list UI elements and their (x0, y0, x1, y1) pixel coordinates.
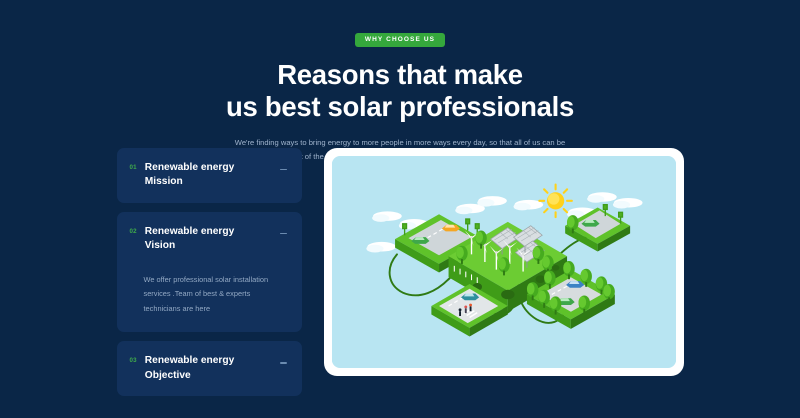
minus-icon[interactable] (279, 229, 288, 238)
illustration-card (324, 148, 684, 376)
port (535, 275, 545, 283)
minus-icon[interactable] (279, 165, 288, 174)
accordion-item-2[interactable]: 02 Renewable energy Vision We offer prof… (117, 212, 302, 332)
page-root: WHY CHOOSE US Reasons that make us best … (0, 0, 800, 418)
isometric-renewable-energy-city-illustration (332, 156, 676, 368)
accordion-body-2: We offer professional solar installation… (130, 273, 288, 316)
accordion-title-3-line-1: Renewable energy (145, 355, 234, 366)
accordion-title-1-line-1: Renewable energy (145, 162, 234, 173)
accordion-number-1: 01 (130, 161, 137, 171)
accordion-number-3: 03 (130, 354, 137, 364)
main-content: 01 Renewable energy Mission 02 Renewable… (0, 148, 800, 388)
minus-icon[interactable] (279, 358, 288, 367)
illustration-canvas (332, 156, 676, 368)
accordion-title-1-line-2: Mission (145, 176, 183, 187)
accordion-header-2[interactable]: 02 Renewable energy Vision (130, 225, 288, 254)
accordion-header-3[interactable]: 03 Renewable energy Objective (130, 354, 288, 383)
headline-line-1: Reasons that make (277, 59, 523, 90)
accordion-title-2-line-1: Renewable energy (145, 226, 234, 237)
accordion-item-3[interactable]: 03 Renewable energy Objective (117, 341, 302, 396)
accordion-title-2: Renewable energy Vision (145, 225, 271, 254)
accordion-number-2: 02 (130, 225, 137, 235)
port (501, 290, 514, 300)
accordion-title-2-line-2: Vision (145, 240, 175, 251)
accordion-list: 01 Renewable energy Mission 02 Renewable… (117, 148, 302, 388)
section-badge: WHY CHOOSE US (355, 33, 445, 47)
accordion-title-3-line-2: Objective (145, 370, 191, 381)
accordion-title-3: Renewable energy Objective (145, 354, 271, 383)
headline-line-2: us best solar professionals (226, 91, 574, 122)
accordion-item-1[interactable]: 01 Renewable energy Mission (117, 148, 302, 203)
section-header: WHY CHOOSE US Reasons that make us best … (0, 0, 800, 164)
accordion-header-1[interactable]: 01 Renewable energy Mission (130, 161, 288, 190)
page-title: Reasons that make us best solar professi… (0, 59, 800, 123)
sun-icon (539, 185, 571, 217)
accordion-title-1: Renewable energy Mission (145, 161, 271, 190)
port (551, 265, 559, 271)
